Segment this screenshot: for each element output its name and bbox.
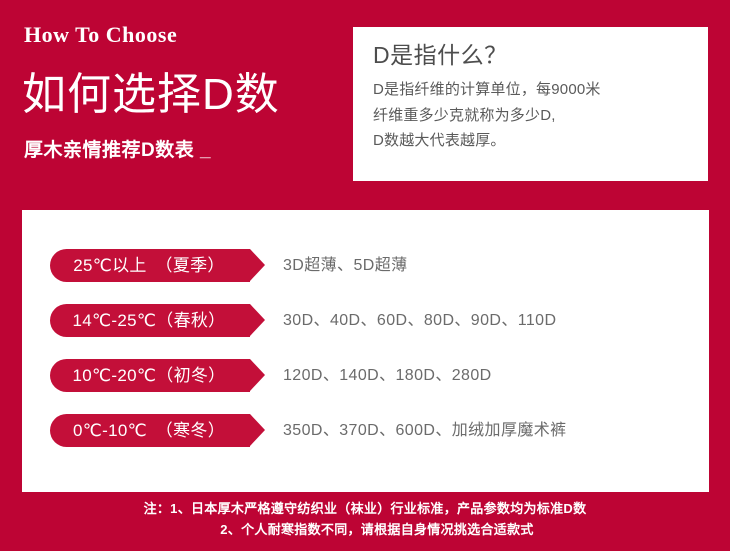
table-row: 25℃以上 （夏季） 3D超薄、5D超薄	[50, 249, 408, 282]
denier-values: 350D、370D、600D、加绒加厚魔术裤	[283, 423, 567, 439]
page-title: 如何选择D数	[22, 72, 280, 118]
temperature-badge-label: 14℃-25℃（春秋）	[73, 312, 226, 329]
temperature-badge-label: 25℃以上 （夏季）	[73, 257, 225, 274]
denier-values: 30D、40D、60D、80D、90D、110D	[283, 313, 556, 329]
info-card-body-line: 纤维重多少克就称为多少D,	[373, 103, 688, 129]
footer-notes: 注：1、日本厚木严格遵守纺织业（袜业）行业标准，产品参数均为标准D数 2、个人耐…	[0, 498, 730, 541]
temperature-badge: 25℃以上 （夏季）	[50, 249, 250, 282]
footer-note-line: 注：1、日本厚木严格遵守纺织业（袜业）行业标准，产品参数均为标准D数	[0, 498, 730, 519]
denier-values: 120D、140D、180D、280D	[283, 368, 492, 384]
info-card-body-line: D数越大代表越厚。	[373, 128, 688, 154]
table-row: 0℃-10℃ （寒冬） 350D、370D、600D、加绒加厚魔术裤	[50, 414, 567, 447]
footer-note-line: 2、个人耐寒指数不同，请根据自身情况挑选合适款式	[0, 519, 730, 540]
temperature-badge: 10℃-20℃（初冬）	[50, 359, 250, 392]
table-row: 10℃-20℃（初冬） 120D、140D、180D、280D	[50, 359, 492, 392]
temperature-badge: 0℃-10℃ （寒冬）	[50, 414, 250, 447]
info-card: D是指什么？ D是指纤维的计算单位，每9000米 纤维重多少克就称为多少D, D…	[353, 27, 708, 181]
temperature-badge-label: 0℃-10℃ （寒冬）	[73, 422, 225, 439]
page-subtitle: 厚木亲情推荐D数表 _	[24, 141, 211, 162]
info-card-body-line: D是指纤维的计算单位，每9000米	[373, 77, 688, 103]
temperature-badge: 14℃-25℃（春秋）	[50, 304, 250, 337]
table-row: 14℃-25℃（春秋） 30D、40D、60D、80D、90D、110D	[50, 304, 556, 337]
denier-values: 3D超薄、5D超薄	[283, 258, 408, 274]
eyebrow-text: How To Choose	[24, 24, 177, 46]
info-card-title: D是指什么？	[373, 41, 688, 70]
temperature-badge-label: 10℃-20℃（初冬）	[73, 367, 226, 384]
recommendation-panel: 25℃以上 （夏季） 3D超薄、5D超薄 14℃-25℃（春秋） 30D、40D…	[22, 210, 709, 492]
info-card-body: D是指纤维的计算单位，每9000米 纤维重多少克就称为多少D, D数越大代表越厚…	[373, 77, 688, 154]
poster-root: How To Choose 如何选择D数 厚木亲情推荐D数表 _ D是指什么？ …	[0, 0, 730, 551]
